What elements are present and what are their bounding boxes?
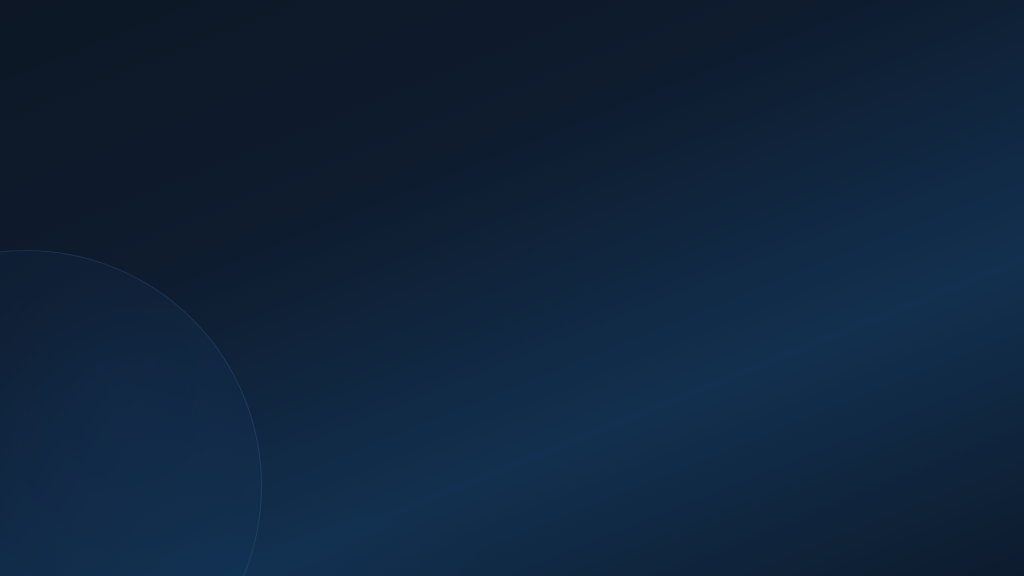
glow-decoration (60, 512, 580, 576)
arc-decoration (0, 250, 262, 576)
chart-canvas: Viet Ingrass Remedment Cióin Pasęes Zhdt… (0, 0, 1024, 576)
